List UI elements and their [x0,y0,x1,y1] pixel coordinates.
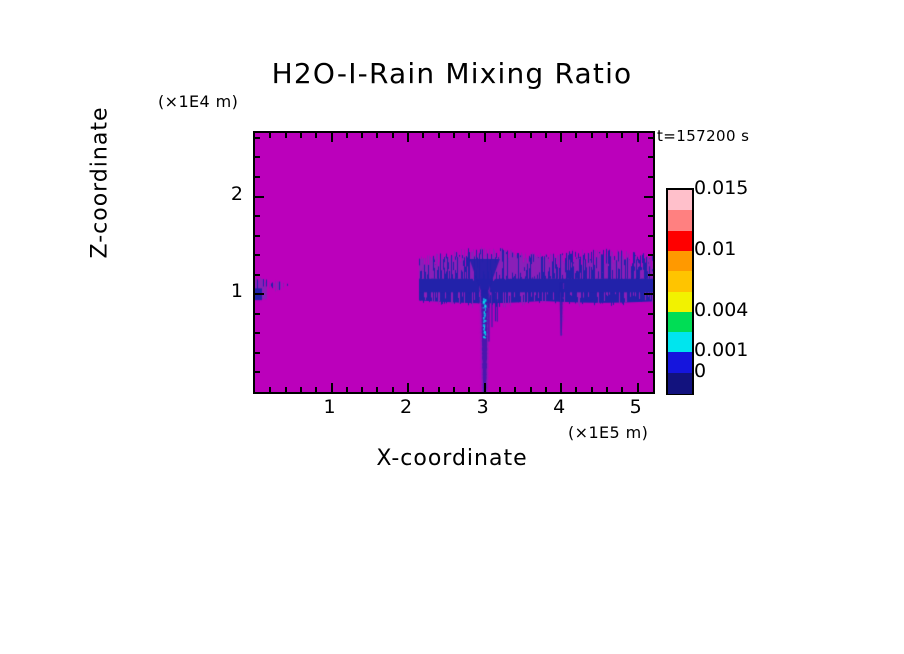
x-tick-labels: 12345 [253,396,651,422]
plot-area [253,131,655,394]
colorbar-tick-label: 0.001 [694,341,748,360]
colorbar-band [668,271,692,292]
colorbar-band [668,231,692,252]
colorbar-band [668,373,692,394]
x-tick-label: 3 [468,396,498,418]
x-tick-label: 5 [621,396,651,418]
x-axis-units: (×1E5 m) [568,423,648,442]
y-tick-labels: 12 [205,131,249,390]
y-axis-units: (×1E4 m) [158,92,238,111]
y-tick-label: 1 [231,282,243,301]
colorbar-band [668,190,692,211]
y-axis-label: Z-coordinate [88,23,113,343]
colorbar-tick-label: 0.004 [694,301,748,320]
x-axis-label: X-coordinate [253,446,651,471]
colorbar-band [668,251,692,272]
x-tick-label: 4 [544,396,574,418]
colorbar-tick-label: 0 [694,362,706,381]
colorbar [666,188,694,395]
figure-canvas: H2O-I-Rain Mixing Ratio (×1E4 m) t=15720… [0,0,904,654]
colorbar-tick-label: 0.015 [694,179,748,198]
colorbar-band [668,292,692,313]
colorbar-band [668,210,692,231]
y-tick-label: 2 [231,185,243,204]
x-tick-label: 2 [391,396,421,418]
colorbar-band [668,352,692,373]
page-title: H2O-I-Rain Mixing Ratio [0,57,904,90]
colorbar-band [668,332,692,353]
x-tick-label: 1 [315,396,345,418]
colorbar-tick-label: 0.01 [694,240,736,259]
timestamp-annotation: t=157200 s [657,127,749,145]
heatmap-canvas [255,133,653,392]
colorbar-labels: 0.0150.010.0040.0010 [694,180,814,405]
colorbar-band [668,312,692,333]
